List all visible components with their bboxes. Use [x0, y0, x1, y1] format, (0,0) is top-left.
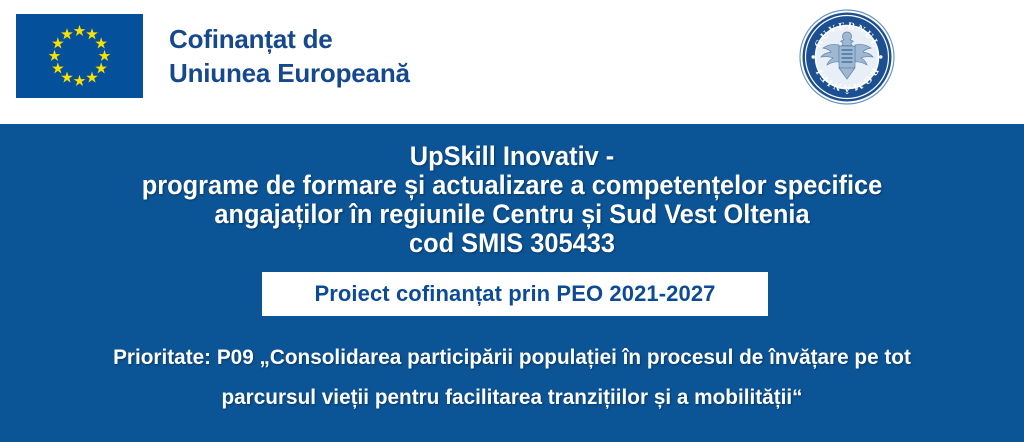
- eu-project-banner: Cofinanțat de Uniunea Europeană: [0, 0, 1024, 442]
- cofinancing-label: Proiect cofinanțat prin PEO 2021-2027: [314, 282, 715, 306]
- cofinancing-box: Proiect cofinanțat prin PEO 2021-2027: [262, 272, 768, 316]
- priority-statement: Prioritate: P09 „Consolidarea participăr…: [39, 337, 985, 417]
- project-title-line-3: angajaților în regiunile Centru și Sud V…: [31, 200, 994, 229]
- eu-wordmark-line-1: Cofinanțat de: [169, 22, 410, 56]
- eu-wordmark-line-2: Uniunea Europeană: [169, 56, 410, 90]
- eu-emblem: Cofinanțat de Uniunea Europeană: [16, 14, 410, 98]
- priority-line-2: parcursul vieții pentru facilitarea tran…: [39, 377, 985, 417]
- project-banner-body: UpSkill Inovativ - programe de formare ș…: [0, 124, 1024, 442]
- priority-line-1: Prioritate: P09 „Consolidarea participăr…: [39, 337, 985, 377]
- eu-flag-icon: [16, 14, 143, 98]
- project-smis-code: cod SMIS 305433: [31, 229, 994, 258]
- project-title: UpSkill Inovativ - programe de formare ș…: [31, 142, 994, 258]
- eu-wordmark: Cofinanțat de Uniunea Europeană: [169, 22, 410, 90]
- logos-strip: Cofinanțat de Uniunea Europeană: [0, 0, 1024, 124]
- romanian-government-seal-icon: GUVERNUL ROMÂNIEI: [799, 9, 895, 105]
- project-title-line-1: UpSkill Inovativ -: [31, 142, 994, 171]
- project-title-line-2: programe de formare și actualizare a com…: [31, 171, 994, 200]
